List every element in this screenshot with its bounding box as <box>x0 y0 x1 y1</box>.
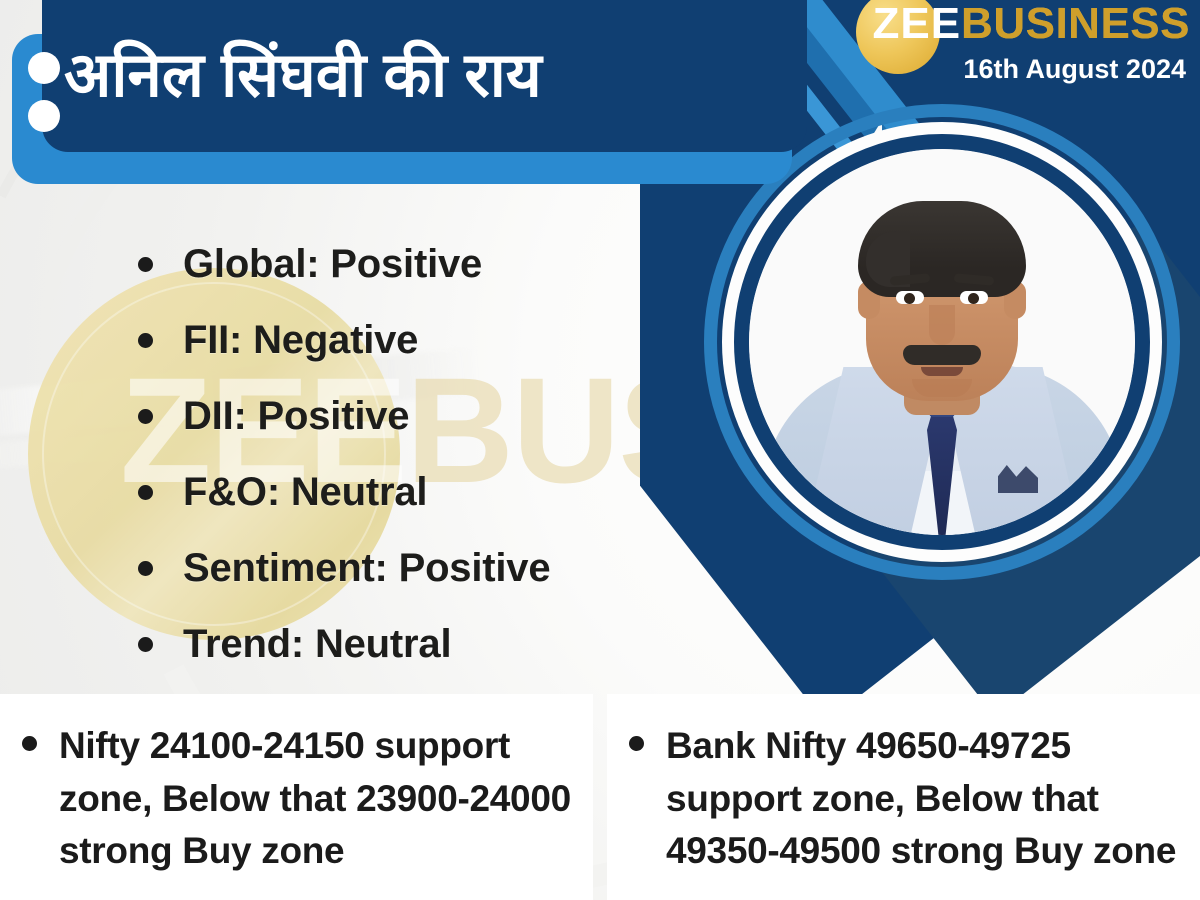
bullet-dot-icon <box>629 736 644 751</box>
logo-wordmark: ZEE BUSINESS <box>858 2 1190 46</box>
portrait-mouth <box>921 367 963 376</box>
zee-business-logo: ZEE BUSINESS <box>858 2 1190 46</box>
portrait-chin <box>912 379 972 397</box>
page-title: अनिल सिंघवी की राय <box>64 45 542 107</box>
logo-business-text: BUSINESS <box>961 2 1190 46</box>
list-item: Sentiment: Positive <box>138 530 698 606</box>
bullet-dot-icon <box>138 637 153 652</box>
portrait-moustache <box>903 345 981 365</box>
market-view-label: Global: Positive <box>183 244 482 284</box>
bullet-dot-icon <box>138 409 153 424</box>
logo-zee-text: ZEE <box>872 2 961 46</box>
bullet-dot-icon <box>138 257 153 272</box>
market-view-label: Trend: Neutral <box>183 624 451 664</box>
list-item: DII: Positive <box>138 378 698 454</box>
list-item: Trend: Neutral <box>138 606 698 682</box>
colon-dots-icon <box>28 52 60 84</box>
list-item: FII: Negative <box>138 302 698 378</box>
bullet-dot-icon <box>138 485 153 500</box>
title-banner: अनिल सिंघवी की राय <box>42 0 807 152</box>
nifty-levels-text: Nifty 24100-24150 support zone, Below th… <box>59 720 571 878</box>
portrait-photo <box>749 149 1135 535</box>
bullet-dot-icon <box>22 736 37 751</box>
publish-date: 16th August 2024 <box>963 54 1186 85</box>
market-view-list: Global: Positive FII: Negative DII: Posi… <box>138 226 698 682</box>
list-item: F&O: Neutral <box>138 454 698 530</box>
bank-nifty-levels-card: Bank Nifty 49650-49725 support zone, Bel… <box>607 694 1200 900</box>
bullet-dot-icon <box>138 561 153 576</box>
market-view-label: FII: Negative <box>183 320 418 360</box>
portrait-nose <box>929 305 955 345</box>
bullet-dot-icon <box>138 333 153 348</box>
market-view-label: Sentiment: Positive <box>183 548 550 588</box>
market-view-label: DII: Positive <box>183 396 409 436</box>
market-view-label: F&O: Neutral <box>183 472 427 512</box>
portrait-pupil-left <box>904 293 915 304</box>
infographic-card: ZEEBUSINESS <box>0 0 1200 900</box>
list-item: Global: Positive <box>138 226 698 302</box>
nifty-levels-card: Nifty 24100-24150 support zone, Below th… <box>0 694 593 900</box>
portrait-pupil-right <box>968 293 979 304</box>
anil-singhvi-portrait <box>734 134 1150 550</box>
colon-dots-icon <box>28 100 60 132</box>
levels-cards: Nifty 24100-24150 support zone, Below th… <box>0 694 1200 900</box>
portrait-hair <box>858 201 1026 297</box>
bank-nifty-levels-text: Bank Nifty 49650-49725 support zone, Bel… <box>666 720 1178 878</box>
